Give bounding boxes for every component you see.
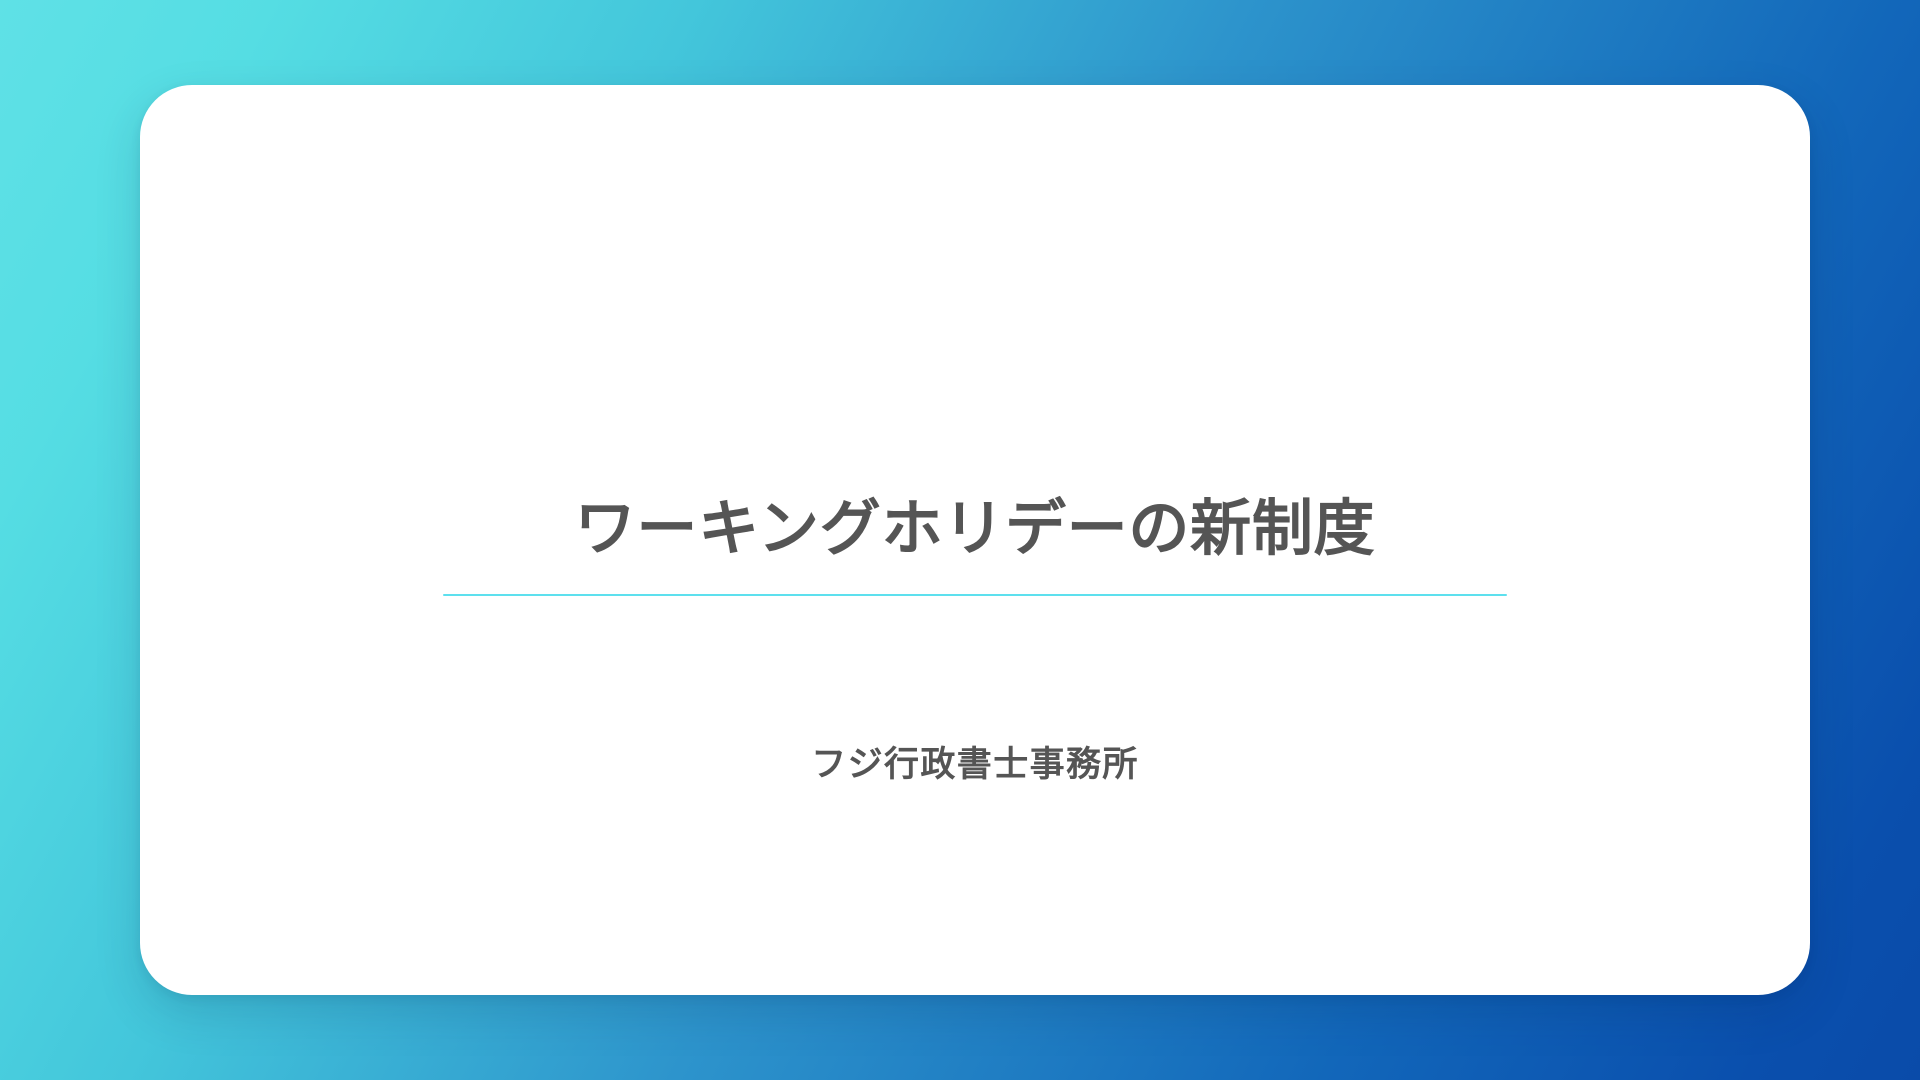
slide-card: ワーキングホリデーの新制度 フジ行政書士事務所 — [140, 85, 1810, 995]
slide-subtitle: フジ行政書士事務所 — [811, 744, 1139, 786]
title-block: ワーキングホリデーの新制度 フジ行政書士事務所 — [140, 494, 1810, 786]
title-divider — [443, 594, 1507, 596]
slide-background: ワーキングホリデーの新制度 フジ行政書士事務所 — [0, 0, 1920, 1080]
slide-title: ワーキングホリデーの新制度 — [575, 494, 1376, 562]
